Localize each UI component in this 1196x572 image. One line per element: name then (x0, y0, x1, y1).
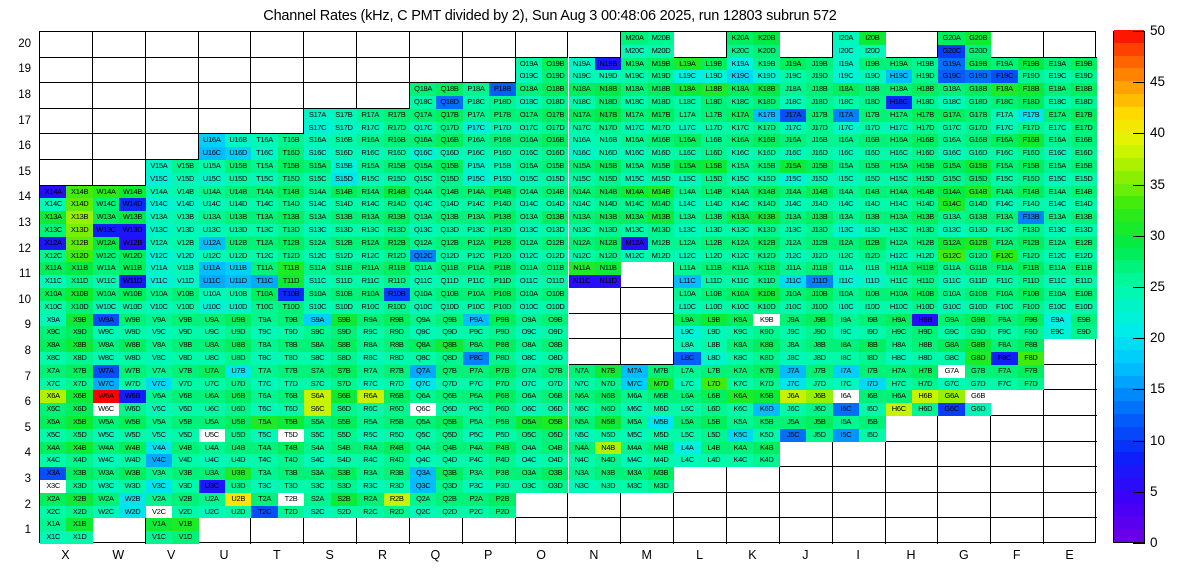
channel-S10C[interactable]: S10C (304, 301, 330, 314)
channel-L18D[interactable]: L18D (701, 96, 727, 109)
channel-N11A[interactable]: N11A (569, 262, 595, 275)
channel-J16B[interactable]: J16B (806, 134, 832, 147)
channel-S14A[interactable]: S14A (304, 186, 330, 199)
channel-H17C[interactable]: H17C (886, 122, 912, 135)
grid-cell-J12[interactable]: J12AJ12BJ12CJ12D (780, 237, 833, 263)
channel-U14A[interactable]: U14A (199, 186, 225, 199)
channel-H9A[interactable]: H9A (886, 314, 912, 327)
grid-cell-N8[interactable] (569, 339, 622, 365)
channel-K10D[interactable]: K10D (753, 301, 779, 314)
grid-cell-K1[interactable] (727, 518, 780, 544)
channel-X4B[interactable]: X4B (66, 442, 92, 455)
channel-T11B[interactable]: T11B (278, 262, 304, 275)
channel-J18D[interactable]: J18D (806, 96, 832, 109)
grid-cell-N13[interactable]: N13AN13BN13CN13D (569, 211, 622, 237)
channel-R7B[interactable]: R7B (384, 365, 410, 378)
channel-K14D[interactable]: K14D (753, 198, 779, 211)
channel-X8C[interactable]: X8C (40, 352, 66, 365)
channel-R12C[interactable]: R12C (357, 250, 383, 263)
grid-cell-P15[interactable]: P15AP15BP15CP15D (463, 160, 516, 186)
channel-R17D[interactable]: R17D (384, 122, 410, 135)
channel-T3C[interactable]: T3C (251, 480, 277, 493)
channel-T13A[interactable]: T13A (251, 211, 277, 224)
channel-J10B[interactable]: J10B (806, 288, 832, 301)
channel-V2B[interactable]: V2B (172, 493, 198, 506)
channel-J16D[interactable]: J16D (806, 147, 832, 160)
channel-E19C[interactable]: E19C (1044, 70, 1070, 83)
grid-cell-Q11[interactable]: Q11AQ11BQ11CQ11D (410, 262, 463, 288)
channel-G13D[interactable]: G13D (965, 224, 991, 237)
channel-M19B[interactable]: M19B (648, 58, 674, 71)
channel-Q6D[interactable]: Q6D (436, 403, 462, 416)
grid-cell-V10[interactable]: V10AV10BV10CV10D (146, 288, 199, 314)
channel-P8B[interactable]: P8B (489, 339, 515, 352)
channel-V6D[interactable]: V6D (172, 403, 198, 416)
grid-cell-Q18[interactable]: Q18AQ18BQ18CQ18D (410, 83, 463, 109)
channel-K16D[interactable]: K16D (753, 147, 779, 160)
channel-V5B[interactable]: V5B (172, 416, 198, 429)
channel-X6D[interactable]: X6D (66, 403, 92, 416)
channel-P5C[interactable]: P5C (463, 429, 489, 442)
channel-I8B[interactable]: I8B (859, 339, 885, 352)
channel-I6A[interactable]: I6A (833, 390, 859, 403)
channel-U10A[interactable]: U10A (199, 288, 225, 301)
grid-cell-P14[interactable]: P14AP14BP14CP14D (463, 186, 516, 212)
channel-X9A[interactable]: X9A (40, 314, 66, 327)
channel-G9B[interactable]: G9B (965, 314, 991, 327)
channel-L18B[interactable]: L18B (701, 83, 727, 96)
channel-U15A[interactable]: U15A (199, 160, 225, 173)
channel-N18D[interactable]: N18D (595, 96, 621, 109)
grid-cell-T10[interactable]: T10AT10BT10CT10D (251, 288, 304, 314)
channel-W12A[interactable]: W12A (93, 237, 119, 250)
channel-L17C[interactable]: L17C (674, 122, 700, 135)
grid-cell-I19[interactable]: I19AI19BI19CI19D (833, 58, 886, 84)
grid-cell-X9[interactable]: X9AX9BX9CX9D (40, 314, 93, 340)
channel-R14B[interactable]: R14B (384, 186, 410, 199)
channel-O6D[interactable]: O6D (542, 403, 568, 416)
grid-cell-U9[interactable]: U9AU9BU9CU9D (199, 314, 252, 340)
channel-R7D[interactable]: R7D (384, 378, 410, 391)
channel-J15C[interactable]: J15C (780, 173, 806, 186)
channel-I14B[interactable]: I14B (859, 186, 885, 199)
channel-H12D[interactable]: H12D (912, 250, 938, 263)
channel-E19A[interactable]: E19A (1044, 58, 1070, 71)
channel-T16C[interactable]: T16C (251, 147, 277, 160)
channel-F14A[interactable]: F14A (991, 186, 1017, 199)
grid-cell-G6[interactable]: G6AG6BG6CG6D (938, 390, 991, 416)
grid-cell-I9[interactable]: I9AI9BI9CI9D (833, 314, 886, 340)
channel-I15D[interactable]: I15D (859, 173, 885, 186)
channel-W3A[interactable]: W3A (93, 467, 119, 480)
channel-U16D[interactable]: U16D (225, 147, 251, 160)
channel-U12D[interactable]: U12D (225, 250, 251, 263)
channel-N17B[interactable]: N17B (595, 109, 621, 122)
channel-Q13A[interactable]: Q13A (410, 211, 436, 224)
grid-cell-G11[interactable]: G11AG11BG11CG11D (938, 262, 991, 288)
grid-cell-I18[interactable]: I18AI18BI18CI18D (833, 83, 886, 109)
channel-T8B[interactable]: T8B (278, 339, 304, 352)
channel-rate-heatmap[interactable]: M20AM20BM20CM20DK20AK20BK20CK20DI20AI20B… (39, 31, 1096, 543)
channel-J13B[interactable]: J13B (806, 211, 832, 224)
channel-H11D[interactable]: H11D (912, 275, 938, 288)
grid-cell-U18[interactable] (199, 83, 252, 109)
channel-G20D[interactable]: G20D (965, 45, 991, 58)
grid-cell-M7[interactable]: M7AM7BM7CM7D (621, 365, 674, 391)
channel-W13C[interactable]: W13C (93, 224, 119, 237)
channel-R9B[interactable]: R9B (384, 314, 410, 327)
channel-X13A[interactable]: X13A (40, 211, 66, 224)
grid-cell-E17[interactable]: E17AE17BE17CE17D (1044, 109, 1097, 135)
channel-W2C[interactable]: W2C (93, 506, 119, 519)
channel-U5D[interactable]: U5D (225, 429, 251, 442)
channel-X10B[interactable]: X10B (66, 288, 92, 301)
channel-I19C[interactable]: I19C (833, 70, 859, 83)
channel-I19D[interactable]: I19D (859, 70, 885, 83)
channel-T4D[interactable]: T4D (278, 454, 304, 467)
channel-K11C[interactable]: K11C (727, 275, 753, 288)
channel-G12A[interactable]: G12A (938, 237, 964, 250)
grid-cell-K8[interactable]: K8AK8BK8CK8D (727, 339, 780, 365)
channel-S17C[interactable]: S17C (304, 122, 330, 135)
channel-R12A[interactable]: R12A (357, 237, 383, 250)
channel-R5D[interactable]: R5D (384, 429, 410, 442)
channel-N7A[interactable]: N7A (569, 365, 595, 378)
channel-M17C[interactable]: M17C (621, 122, 647, 135)
channel-W7B[interactable]: W7B (119, 365, 145, 378)
channel-L14C[interactable]: L14C (674, 198, 700, 211)
channel-W11D[interactable]: W11D (119, 275, 145, 288)
channel-K12D[interactable]: K12D (753, 250, 779, 263)
channel-W9C[interactable]: W9C (93, 326, 119, 339)
channel-X12D[interactable]: X12D (66, 250, 92, 263)
channel-R10B[interactable]: R10B (384, 288, 410, 301)
channel-P15C[interactable]: P15C (463, 173, 489, 186)
channel-V7A[interactable]: V7A (146, 365, 172, 378)
channel-X14D[interactable]: X14D (66, 198, 92, 211)
channel-V6A[interactable]: V6A (146, 390, 172, 403)
channel-L7C[interactable]: L7C (674, 378, 700, 391)
grid-cell-L10[interactable]: L10AL10BL10CL10D (674, 288, 727, 314)
channel-S7A[interactable]: S7A (304, 365, 330, 378)
channel-G14D[interactable]: G14D (965, 198, 991, 211)
grid-cell-O7[interactable]: O7AO7BO7CO7D (516, 365, 569, 391)
channel-L16D[interactable]: L16D (701, 147, 727, 160)
channel-L6C[interactable]: L6C (674, 403, 700, 416)
channel-J17C[interactable]: J17C (780, 122, 806, 135)
channel-O4C[interactable]: O4C (516, 454, 542, 467)
channel-E9C[interactable]: E9C (1044, 326, 1070, 339)
channel-V5D[interactable]: V5D (172, 429, 198, 442)
channel-N4D[interactable]: N4D (595, 454, 621, 467)
grid-cell-U7[interactable]: U7AU7BU7CU7D (199, 365, 252, 391)
channel-L5D[interactable]: L5D (701, 429, 727, 442)
channel-H18A[interactable]: H18A (886, 83, 912, 96)
channel-T16A[interactable]: T16A (251, 134, 277, 147)
channel-I20D[interactable]: I20D (859, 45, 885, 58)
channel-R8A[interactable]: R8A (357, 339, 383, 352)
channel-M13B[interactable]: M13B (648, 211, 674, 224)
channel-N19D[interactable]: N19D (595, 70, 621, 83)
channel-H18D[interactable]: H18D (912, 96, 938, 109)
grid-cell-S6[interactable]: S6AS6BS6CS6D (304, 390, 357, 416)
grid-cell-P4[interactable]: P4AP4BP4CP4D (463, 442, 516, 468)
channel-V13C[interactable]: V13C (146, 224, 172, 237)
channel-M15D[interactable]: M15D (648, 173, 674, 186)
channel-R6B[interactable]: R6B (384, 390, 410, 403)
grid-cell-H10[interactable]: H10AH10BH10CH10D (886, 288, 939, 314)
grid-cell-T7[interactable]: T7AT7BT7CT7D (251, 365, 304, 391)
grid-cell-O17[interactable]: O17AO17BO17CO17D (516, 109, 569, 135)
channel-P18B[interactable]: P18B (489, 83, 515, 96)
channel-V1D[interactable]: V1D (172, 531, 198, 544)
channel-R13A[interactable]: R13A (357, 211, 383, 224)
channel-O17B[interactable]: O17B (542, 109, 568, 122)
channel-P4D[interactable]: P4D (489, 454, 515, 467)
channel-U13B[interactable]: U13B (225, 211, 251, 224)
channel-O6A[interactable]: O6A (516, 390, 542, 403)
channel-U7D[interactable]: U7D (225, 378, 251, 391)
grid-cell-T19[interactable] (251, 58, 304, 84)
grid-cell-M13[interactable]: M13AM13BM13CM13D (621, 211, 674, 237)
channel-F9D[interactable]: F9D (1018, 326, 1044, 339)
channel-T11D[interactable]: T11D (278, 275, 304, 288)
channel-V4C[interactable]: V4C (146, 454, 172, 467)
channel-M13A[interactable]: M13A (621, 211, 647, 224)
channel-L5C[interactable]: L5C (674, 429, 700, 442)
channel-U3D[interactable]: U3D (225, 480, 251, 493)
channel-M19D[interactable]: M19D (648, 70, 674, 83)
channel-W2D[interactable]: W2D (119, 506, 145, 519)
channel-R4B[interactable]: R4B (384, 442, 410, 455)
channel-K18D[interactable]: K18D (753, 96, 779, 109)
channel-W2A[interactable]: W2A (93, 493, 119, 506)
channel-M17B[interactable]: M17B (648, 109, 674, 122)
grid-cell-N19[interactable]: N19AN19BN19CN19D (569, 58, 622, 84)
channel-Q17B[interactable]: Q17B (436, 109, 462, 122)
channel-X2C[interactable]: X2C (40, 506, 66, 519)
channel-X5B[interactable]: X5B (66, 416, 92, 429)
channel-P5D[interactable]: P5D (489, 429, 515, 442)
channel-G19A[interactable]: G19A (938, 58, 964, 71)
grid-cell-W16[interactable] (93, 134, 146, 160)
channel-J10A[interactable]: J10A (780, 288, 806, 301)
channel-K12B[interactable]: K12B (753, 237, 779, 250)
grid-cell-O15[interactable]: O15AO15BO15CO15D (516, 160, 569, 186)
channel-J5B[interactable]: J5B (806, 416, 832, 429)
channel-U4C[interactable]: U4C (199, 454, 225, 467)
channel-T5C[interactable]: T5C (251, 429, 277, 442)
channel-O9A[interactable]: O9A (516, 314, 542, 327)
channel-O10A[interactable]: O10A (516, 288, 542, 301)
channel-M15A[interactable]: M15A (621, 160, 647, 173)
channel-S2C[interactable]: S2C (304, 506, 330, 519)
grid-cell-E10[interactable]: E10AE10BE10CE10D (1044, 288, 1097, 314)
grid-cell-P9[interactable]: P9AP9BP9CP9D (463, 314, 516, 340)
channel-Q16D[interactable]: Q16D (436, 147, 462, 160)
channel-X1D[interactable]: X1D (66, 531, 92, 544)
channel-N11B[interactable]: N11B (595, 262, 621, 275)
channel-P2B[interactable]: P2B (489, 493, 515, 506)
grid-cell-X10[interactable]: X10AX10BX10CX10D (40, 288, 93, 314)
channel-V12D[interactable]: V12D (172, 250, 198, 263)
channel-W14D[interactable]: W14D (119, 198, 145, 211)
channel-J16A[interactable]: J16A (780, 134, 806, 147)
channel-L13A[interactable]: L13A (674, 211, 700, 224)
channel-R11D[interactable]: R11D (384, 275, 410, 288)
channel-R15B[interactable]: R15B (384, 160, 410, 173)
channel-H10D[interactable]: H10D (912, 301, 938, 314)
grid-cell-M3[interactable]: M3AM3BM3CM3D (621, 467, 674, 493)
grid-cell-X15[interactable] (40, 160, 93, 186)
grid-cell-V13[interactable]: V13AV13BV13CV13D (146, 211, 199, 237)
channel-G18A[interactable]: G18A (938, 83, 964, 96)
channel-V9B[interactable]: V9B (172, 314, 198, 327)
channel-P15B[interactable]: P15B (489, 160, 515, 173)
grid-cell-J11[interactable]: J11AJ11BJ11CJ11D (780, 262, 833, 288)
channel-O7C[interactable]: O7C (516, 378, 542, 391)
grid-cell-I4[interactable] (833, 442, 886, 468)
channel-P2D[interactable]: P2D (489, 506, 515, 519)
channel-J7D[interactable]: J7D (806, 378, 832, 391)
channel-P12A[interactable]: P12A (463, 237, 489, 250)
channel-H16A[interactable]: H16A (886, 134, 912, 147)
channel-O6C[interactable]: O6C (516, 403, 542, 416)
channel-G14B[interactable]: G14B (965, 186, 991, 199)
channel-W8D[interactable]: W8D (119, 352, 145, 365)
channel-J6D[interactable]: J6D (806, 403, 832, 416)
channel-E12D[interactable]: E12D (1071, 250, 1097, 263)
channel-V8C[interactable]: V8C (146, 352, 172, 365)
grid-cell-W5[interactable]: W5AW5BW5CW5D (93, 416, 146, 442)
channel-Q3B[interactable]: Q3B (436, 467, 462, 480)
grid-cell-F19[interactable]: F19AF19BF19CF19D (991, 58, 1044, 84)
channel-T5D[interactable]: T5D (278, 429, 304, 442)
channel-J7B[interactable]: J7B (806, 365, 832, 378)
channel-U16B[interactable]: U16B (225, 134, 251, 147)
channel-O11B[interactable]: O11B (542, 262, 568, 275)
channel-H6D[interactable]: H6D (912, 403, 938, 416)
channel-U9A[interactable]: U9A (199, 314, 225, 327)
channel-F12C[interactable]: F12C (991, 250, 1017, 263)
channel-Q2A[interactable]: Q2A (410, 493, 436, 506)
grid-cell-V16[interactable] (146, 134, 199, 160)
channel-L16C[interactable]: L16C (674, 147, 700, 160)
channel-U4B[interactable]: U4B (225, 442, 251, 455)
channel-F18B[interactable]: F18B (1018, 83, 1044, 96)
channel-M19A[interactable]: M19A (621, 58, 647, 71)
channel-P17D[interactable]: P17D (489, 122, 515, 135)
channel-T9C[interactable]: T9C (251, 326, 277, 339)
channel-K6B[interactable]: K6B (753, 390, 779, 403)
channel-L12B[interactable]: L12B (701, 237, 727, 250)
channel-O14C[interactable]: O14C (516, 198, 542, 211)
channel-L19B[interactable]: L19B (701, 58, 727, 71)
channel-W8A[interactable]: W8A (93, 339, 119, 352)
channel-O18D[interactable]: O18D (542, 96, 568, 109)
channel-P16B[interactable]: P16B (489, 134, 515, 147)
channel-K11D[interactable]: K11D (753, 275, 779, 288)
channel-V5A[interactable]: V5A (146, 416, 172, 429)
grid-cell-H20[interactable] (886, 32, 939, 58)
channel-G10C[interactable]: G10C (938, 301, 964, 314)
channel-R17A[interactable]: R17A (357, 109, 383, 122)
channel-R3A[interactable]: R3A (357, 467, 383, 480)
channel-U6B[interactable]: U6B (225, 390, 251, 403)
channel-L18A[interactable]: L18A (674, 83, 700, 96)
channel-M15C[interactable]: M15C (621, 173, 647, 186)
grid-cell-L14[interactable]: L14AL14BL14CL14D (674, 186, 727, 212)
grid-cell-V7[interactable]: V7AV7BV7CV7D (146, 365, 199, 391)
channel-N4C[interactable]: N4C (569, 454, 595, 467)
channel-M20B[interactable]: M20B (648, 32, 674, 45)
channel-N15B[interactable]: N15B (595, 160, 621, 173)
channel-Q10A[interactable]: Q10A (410, 288, 436, 301)
channel-I7A[interactable]: I7A (833, 365, 859, 378)
grid-cell-W7[interactable]: W7AW7BW7CW7D (93, 365, 146, 391)
channel-X5A[interactable]: X5A (40, 416, 66, 429)
grid-cell-L7[interactable]: L7AL7BL7CL7D (674, 365, 727, 391)
grid-cell-R8[interactable]: R8AR8BR8CR8D (357, 339, 410, 365)
channel-V2C[interactable]: V2C (146, 506, 172, 519)
channel-N15D[interactable]: N15D (595, 173, 621, 186)
channel-L8A[interactable]: L8A (674, 339, 700, 352)
channel-W6B[interactable]: W6B (119, 390, 145, 403)
channel-P3B[interactable]: P3B (489, 467, 515, 480)
channel-Q13C[interactable]: Q13C (410, 224, 436, 237)
grid-cell-Q7[interactable]: Q7AQ7BQ7CQ7D (410, 365, 463, 391)
channel-E17D[interactable]: E17D (1071, 122, 1097, 135)
channel-W10B[interactable]: W10B (119, 288, 145, 301)
channel-M15B[interactable]: M15B (648, 160, 674, 173)
grid-cell-R15[interactable]: R15AR15BR15CR15D (357, 160, 410, 186)
grid-cell-L15[interactable]: L15AL15BL15CL15D (674, 160, 727, 186)
channel-O16C[interactable]: O16C (516, 147, 542, 160)
channel-R5B[interactable]: R5B (384, 416, 410, 429)
grid-cell-N14[interactable]: N14AN14BN14CN14D (569, 186, 622, 212)
channel-H10C[interactable]: H10C (886, 301, 912, 314)
channel-R3D[interactable]: R3D (384, 480, 410, 493)
channel-X14A[interactable]: X14A (40, 186, 66, 199)
grid-cell-E19[interactable]: E19AE19BE19CE19D (1044, 58, 1097, 84)
channel-V11D[interactable]: V11D (172, 275, 198, 288)
grid-cell-I10[interactable]: I10AI10BI10CI10D (833, 288, 886, 314)
channel-N12A[interactable]: N12A (569, 237, 595, 250)
channel-G12C[interactable]: G12C (938, 250, 964, 263)
channel-N5C[interactable]: N5C (569, 429, 595, 442)
channel-U11C[interactable]: U11C (199, 275, 225, 288)
channel-N13A[interactable]: N13A (569, 211, 595, 224)
grid-cell-F14[interactable]: F14AF14BF14CF14D (991, 186, 1044, 212)
channel-U13D[interactable]: U13D (225, 224, 251, 237)
channel-S12C[interactable]: S12C (304, 250, 330, 263)
grid-cell-X19[interactable] (40, 58, 93, 84)
grid-cell-M6[interactable]: M6AM6BM6CM6D (621, 390, 674, 416)
grid-cell-T9[interactable]: T9AT9BT9CT9D (251, 314, 304, 340)
channel-M12C[interactable]: M12C (621, 250, 647, 263)
channel-J14C[interactable]: J14C (780, 198, 806, 211)
channel-M12B[interactable]: M12B (648, 237, 674, 250)
channel-J15D[interactable]: J15D (806, 173, 832, 186)
channel-P15D[interactable]: P15D (489, 173, 515, 186)
channel-T13D[interactable]: T13D (278, 224, 304, 237)
channel-J16C[interactable]: J16C (780, 147, 806, 160)
channel-S7C[interactable]: S7C (304, 378, 330, 391)
channel-J7C[interactable]: J7C (780, 378, 806, 391)
channel-K10C[interactable]: K10C (727, 301, 753, 314)
grid-cell-F7[interactable]: F7AF7BF7CF7D (991, 365, 1044, 391)
channel-P2C[interactable]: P2C (463, 506, 489, 519)
